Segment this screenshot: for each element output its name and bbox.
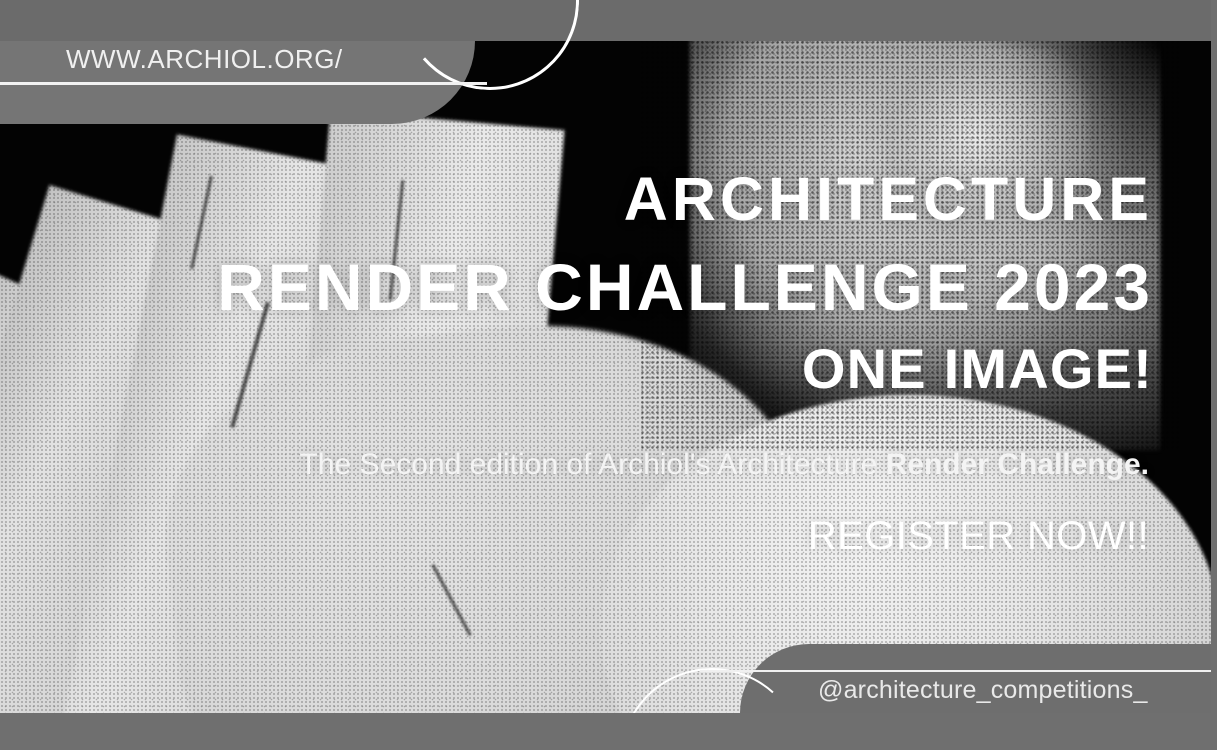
horizontal-rule-top — [0, 82, 487, 85]
headline-line-3: ONE IMAGE! — [173, 340, 1153, 398]
horizontal-rule-bottom — [700, 670, 1211, 672]
frame-border-right — [1211, 0, 1217, 713]
top-gray-strip — [0, 0, 1211, 41]
subtitle-bold-text: Render Challenge. — [886, 448, 1149, 481]
subtitle-light-text: The Second edition of Archiol's Architec… — [300, 448, 886, 481]
social-handle-text[interactable]: @architecture_competitions_ — [818, 676, 1148, 705]
headline-block: ARCHITECTURE RENDER CHALLENGE 2023 ONE I… — [173, 168, 1153, 398]
website-url-text[interactable]: WWW.ARCHIOL.ORG/ — [66, 44, 343, 75]
subtitle-row: The Second edition of Archiol's Architec… — [300, 448, 1149, 482]
poster-frame: WWW.ARCHIOL.ORG/ ARCHITECTURE RENDER CHA… — [0, 0, 1217, 750]
frame-border-bottom — [0, 713, 1217, 750]
headline-line-1: ARCHITECTURE — [173, 168, 1153, 231]
headline-line-2: RENDER CHALLENGE 2023 — [173, 253, 1153, 322]
register-now-cta[interactable]: REGISTER NOW!! — [808, 514, 1149, 559]
poster-artwork-canvas: WWW.ARCHIOL.ORG/ ARCHITECTURE RENDER CHA… — [0, 0, 1211, 713]
